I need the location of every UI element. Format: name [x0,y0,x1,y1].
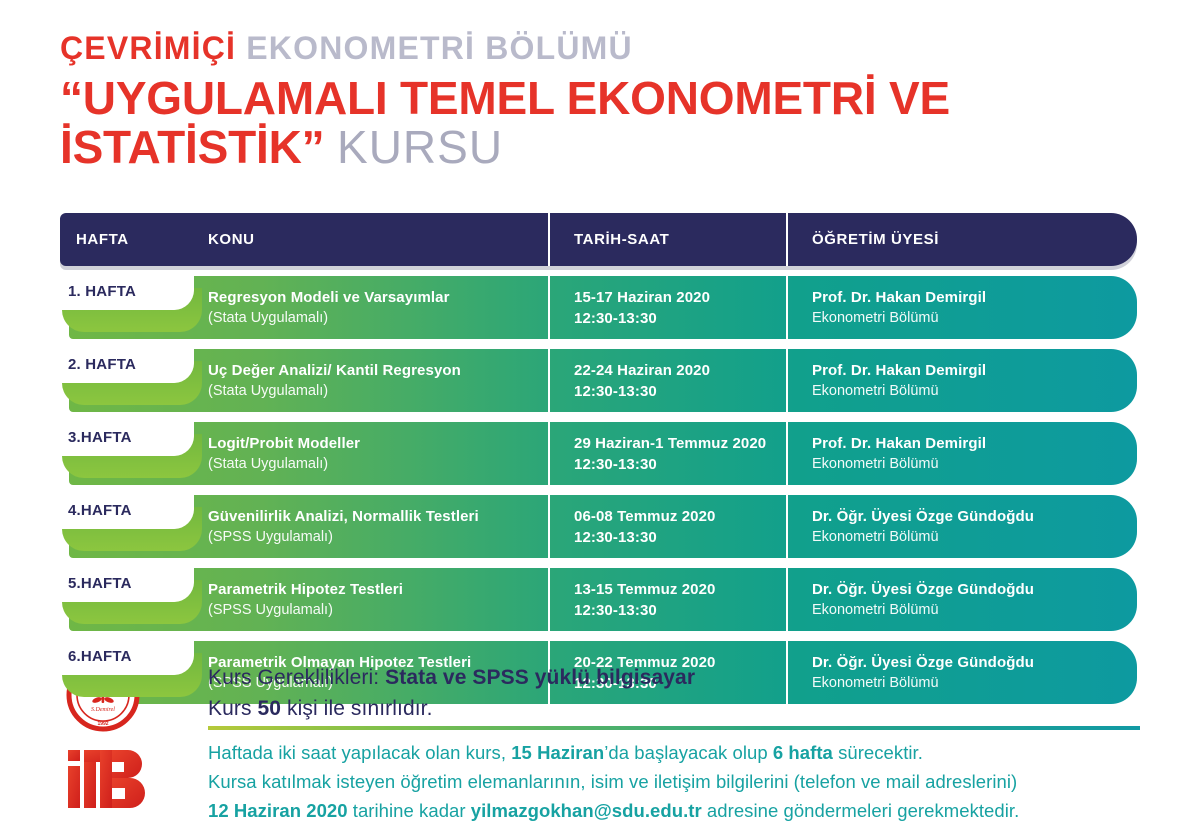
week-tab: 3.HAFTA [60,420,204,478]
requirements-text: Kurs Gereklilikleri: Stata ve SPSS yüklü… [208,662,695,724]
note-1-a: Haftada iki saat yapılacak olan kurs, [208,742,511,763]
cell-tarih: 29 Haziran-1 Temmuz 2020 12:30-13:30 [548,422,766,485]
cell-ogretim: Prof. Dr. Hakan Demirgil Ekonometri Bölü… [786,276,986,339]
course-note: Haftada iki saat yapılacak olan kurs, 15… [208,738,1148,825]
week-label: 5.HAFTA [68,570,194,596]
time-text: 12:30-13:30 [574,454,766,475]
note-line-3: 12 Haziran 2020 tarihine kadar yilmazgok… [208,796,1148,825]
time-text: 12:30-13:30 [574,308,710,329]
topic-tool: (Stata Uygulamalı) [208,381,538,402]
note-1-c: ’da başlayacak olup [604,742,773,763]
instructor-department: Ekonometri Bölümü [812,600,1034,621]
contact-email[interactable]: yilmazgokhan@sdu.edu.tr [471,800,702,821]
week-label: 6.HAFTA [68,643,194,669]
note-1-e: sürecektir. [833,742,923,763]
topic-title: Logit/Probit Modeller [208,433,538,454]
week-tab: 5.HAFTA [60,566,204,624]
footer-divider [208,726,1140,730]
course-requirements: Kurs Gereklilikleri: Stata ve SPSS yüklü… [60,662,1140,724]
cell-konu: Güvenilirlik Analizi, Normallik Testleri… [208,495,538,558]
cell-konu: Parametrik Hipotez Testleri (SPSS Uygula… [208,568,538,631]
time-text: 12:30-13:30 [574,381,710,402]
limit-value: 50 [258,697,282,720]
cell-tarih: 06-08 Temmuz 2020 12:30-13:30 [548,495,716,558]
note-1-duration: 6 hafta [773,742,833,763]
kicker-red-text: ÇEVRİMİÇİ [60,30,236,66]
title-line-1: “UYGULAMALI TEMEL EKONOMETRİ VE [60,72,950,124]
instructor-department: Ekonometri Bölümü [812,381,986,402]
week-tab: 4.HAFTA [60,493,204,551]
cell-tarih: 15-17 Haziran 2020 12:30-13:30 [548,276,710,339]
title-line-2-gray: KURSU [337,121,503,173]
poster-header: ÇEVRİMİÇİ EKONOMETRİ BÖLÜMÜ “UYGULAMALI … [60,28,1160,172]
note-line-2: Kursa katılmak isteyen öğretim elemanlar… [208,767,1148,796]
cell-konu: Regresyon Modeli ve Varsayımlar (Stata U… [208,276,538,339]
table-row: 4.HAFTA Güvenilirlik Analizi, Normallik … [60,495,1137,558]
topic-tool: (SPSS Uygulamalı) [208,600,538,621]
limit-post: kişi ile sınırlıdır. [281,697,432,720]
week-label: 4.HAFTA [68,497,194,523]
week-label: 2. HAFTA [68,351,194,377]
topic-title: Güvenilirlik Analizi, Normallik Testleri [208,506,538,527]
instructor-department: Ekonometri Bölümü [812,527,1034,548]
note-3-b: tarihine kadar [348,800,471,821]
cell-ogretim: Dr. Öğr. Üyesi Özge Gündoğdu Ekonometri … [786,495,1034,558]
topic-tool: (Stata Uygulamalı) [208,308,538,329]
cell-ogretim: Dr. Öğr. Üyesi Özge Gündoğdu Ekonometri … [786,568,1034,631]
week-tab: 1. HAFTA [60,274,204,332]
note-1-start-date: 15 Haziran [511,742,604,763]
limit-pre: Kurs [208,697,258,720]
date-text: 06-08 Temmuz 2020 [574,506,716,527]
cell-konu: Uç Değer Analizi/ Kantil Regresyon (Stat… [208,349,538,412]
time-text: 12:30-13:30 [574,600,716,621]
topic-tool: (SPSS Uygulamalı) [208,527,538,548]
kicker-line: ÇEVRİMİÇİ EKONOMETRİ BÖLÜMÜ [60,28,1160,68]
instructor-name: Dr. Öğr. Üyesi Özge Gündoğdu [812,506,1034,527]
topic-title: Regresyon Modeli ve Varsayımlar [208,287,538,308]
column-header-hafta: HAFTA [76,213,129,266]
cell-tarih: 22-24 Haziran 2020 12:30-13:30 [548,349,710,412]
instructor-department: Ekonometri Bölümü [812,308,986,329]
date-text: 29 Haziran-1 Temmuz 2020 [574,433,766,454]
instructor-name: Prof. Dr. Hakan Demirgil [812,287,986,308]
table-header-row: HAFTA KONU TARİH-SAAT ÖĞRETİM ÜYESİ [60,213,1137,266]
cell-tarih: 13-15 Temmuz 2020 12:30-13:30 [548,568,716,631]
note-3-deadline: 12 Haziran 2020 [208,800,348,821]
week-label: 1. HAFTA [68,278,194,304]
cell-konu: Logit/Probit Modeller (Stata Uygulamalı) [208,422,538,485]
poster-footer: SÜLEYMAN DEMİREL 1992 S.Demirel [60,662,1140,724]
table-row: 1. HAFTA Regresyon Modeli ve Varsayımlar… [60,276,1137,339]
kicker-gray-text: EKONOMETRİ BÖLÜMÜ [246,30,633,66]
instructor-department: Ekonometri Bölümü [812,454,986,475]
instructor-name: Dr. Öğr. Üyesi Özge Gündoğdu [812,579,1034,600]
column-header-konu: KONU [208,213,255,266]
schedule-table: HAFTA KONU TARİH-SAAT ÖĞRETİM ÜYESİ 1. H… [60,213,1137,704]
column-header-tarih: TARİH-SAAT [548,213,669,266]
topic-tool: (Stata Uygulamalı) [208,454,538,475]
time-text: 12:30-13:30 [574,527,716,548]
itb-monogram-icon [66,746,162,812]
instructor-name: Prof. Dr. Hakan Demirgil [812,433,986,454]
table-row: 2. HAFTA Uç Değer Analizi/ Kantil Regres… [60,349,1137,412]
requirement-label: Kurs Gereklilikleri: [208,666,385,689]
cell-ogretim: Prof. Dr. Hakan Demirgil Ekonometri Bölü… [786,422,986,485]
requirement-value: Stata ve SPSS yüklü bilgisayar [385,666,695,689]
date-text: 22-24 Haziran 2020 [574,360,710,381]
date-text: 13-15 Temmuz 2020 [574,579,716,600]
week-tab: 2. HAFTA [60,347,204,405]
topic-title: Uç Değer Analizi/ Kantil Regresyon [208,360,538,381]
note-line-1: Haftada iki saat yapılacak olan kurs, 15… [208,738,1148,767]
page-title: “UYGULAMALI TEMEL EKONOMETRİ VE İSTATİST… [60,74,1160,172]
week-tab: 6.HAFTA [60,639,204,697]
column-header-ogretim: ÖĞRETİM ÜYESİ [786,213,939,266]
table-row: 5.HAFTA Parametrik Hipotez Testleri (SPS… [60,568,1137,631]
instructor-name: Prof. Dr. Hakan Demirgil [812,360,986,381]
note-3-d: adresine göndermeleri gerekmektedir. [702,800,1020,821]
topic-title: Parametrik Hipotez Testleri [208,579,538,600]
table-row: 3.HAFTA Logit/Probit Modeller (Stata Uyg… [60,422,1137,485]
date-text: 15-17 Haziran 2020 [574,287,710,308]
cell-ogretim: Prof. Dr. Hakan Demirgil Ekonometri Bölü… [786,349,986,412]
title-line-2-red: İSTATİSTİK” [60,121,324,173]
itb-logo [66,746,162,812]
week-label: 3.HAFTA [68,424,194,450]
